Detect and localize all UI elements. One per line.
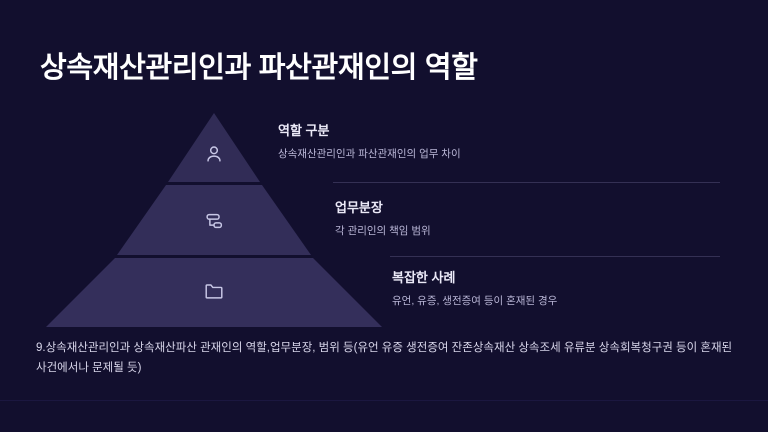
footer-divider xyxy=(0,400,768,401)
tier-1-subtitle: 상속재산관리인과 파산관재인의 업무 차이 xyxy=(278,146,461,161)
slide-root: 상속재산관리인과 파산관재인의 역할 xyxy=(0,0,768,432)
tier-divider-1 xyxy=(333,182,720,183)
tier-3-text: 복잡한 사례 유언, 유증, 생전증여 등이 혼재된 경우 xyxy=(392,267,557,308)
footer-caption: 9.상속재산관리인과 상속재산파산 관재인의 역할,업무분장, 범위 등(유언 … xyxy=(36,338,736,378)
tier-3-subtitle: 유언, 유증, 생전증여 등이 혼재된 경우 xyxy=(392,293,557,308)
tier-2-title: 업무분장 xyxy=(335,197,431,216)
tier-1-text: 역할 구분 상속재산관리인과 파산관재인의 업무 차이 xyxy=(278,120,461,161)
tier-3-title: 복잡한 사례 xyxy=(392,267,557,286)
tier-2-subtitle: 각 관리인의 책임 범위 xyxy=(335,223,431,238)
folder-icon xyxy=(201,278,227,304)
user-icon xyxy=(201,141,227,167)
tier-2-text: 업무분장 각 관리인의 책임 범위 xyxy=(335,197,431,238)
tier-1-title: 역할 구분 xyxy=(278,120,461,139)
tier-divider-2 xyxy=(390,256,720,257)
sitemap-icon xyxy=(201,208,227,234)
page-title: 상속재산관리인과 파산관재인의 역할 xyxy=(40,44,478,86)
